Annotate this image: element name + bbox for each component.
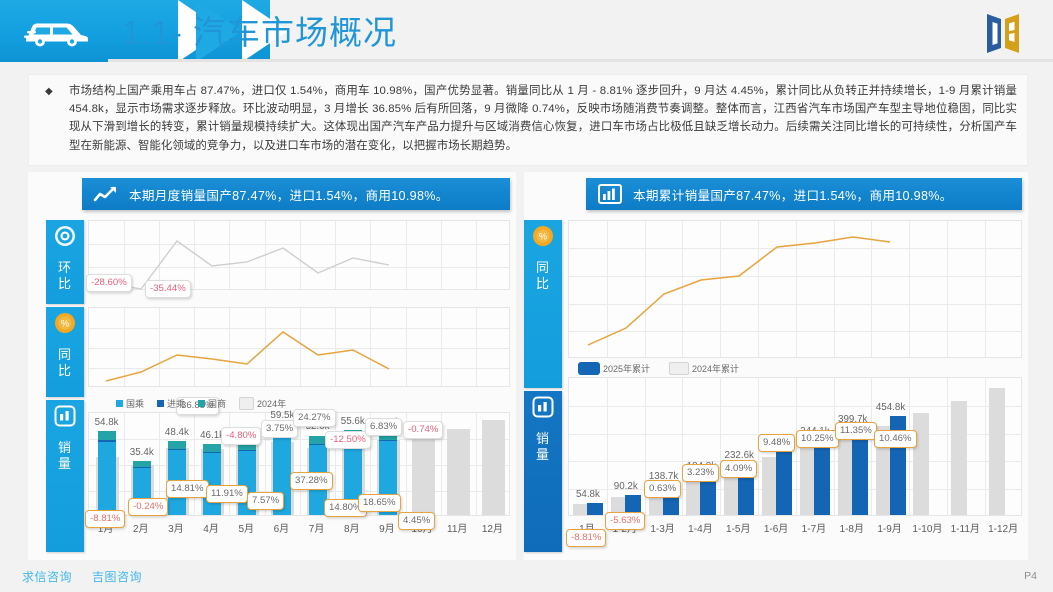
- sidebar-label-cum-yoy: 同比: [535, 260, 551, 292]
- summary-bullet: ◆: [45, 86, 53, 97]
- right-chart-legend: 2025年累计 2024年累计: [578, 362, 748, 375]
- left-chart-legend: 国乘 进乘 国商 2024年: [116, 397, 295, 410]
- axis-label: 5月: [226, 520, 266, 535]
- sidebar-label-mom: 环比: [57, 260, 73, 292]
- cumyoy-label-4: 3.23%: [682, 464, 719, 482]
- legend-item-2025-cum: 2025年累计: [578, 362, 650, 375]
- axis-label: 4月: [191, 520, 231, 535]
- sidebar-item-yoy[interactable]: % 同比: [46, 307, 84, 397]
- bar-2025-cum: [814, 440, 830, 515]
- bar-segment-国商: [203, 444, 221, 452]
- axis-label: 2月: [121, 520, 161, 535]
- right-panel-caption: 本期累计销量国产87.47%，进口1.54%，商用10.98%。: [586, 178, 1022, 210]
- bar-2024-ref: [447, 429, 470, 515]
- bar-chart-icon: [593, 184, 627, 204]
- legend-swatch: [157, 400, 164, 407]
- legend-swatch: [239, 397, 254, 410]
- line-chart-icon: [89, 185, 123, 203]
- right-panel: 本期累计销量国产87.47%，进口1.54%，商用10.98%。 % 同比 销量: [524, 172, 1028, 560]
- bar-segment-进乘: [309, 444, 327, 445]
- bar-2024-cum: [989, 388, 1005, 515]
- legend-swatch: [198, 400, 205, 407]
- bar-2025-cum: [852, 428, 868, 515]
- bar-chart-icon: [532, 396, 554, 423]
- bar-value-label: 48.4k: [157, 427, 197, 438]
- axis-label: 12月: [472, 520, 512, 535]
- sidebar-label-sales: 销量: [57, 440, 73, 472]
- page-number: P4: [1024, 570, 1037, 582]
- cumyoy-label-8: 11.35%: [835, 422, 877, 440]
- bar-2024-ref: [482, 420, 505, 515]
- bar-value-label: 54.8k: [87, 417, 127, 428]
- sidebar-item-cum-yoy[interactable]: % 同比: [524, 220, 562, 388]
- bar-segment-进乘: [379, 440, 397, 441]
- bar-segment-国商: [309, 436, 327, 445]
- bar-value-label: 35.4k: [122, 447, 162, 458]
- yoy-label-5: 7.57%: [247, 492, 284, 510]
- left-panel: 本期月度销量国产87.47%，进口1.54%，商用10.98%。 环比 % 同比: [28, 172, 516, 560]
- mom-label-4: -4.80%: [221, 427, 261, 445]
- axis-label: 6月: [261, 520, 301, 535]
- header-divider: [108, 59, 1053, 62]
- page-title: 1.1- 汽车市场概况: [122, 6, 397, 54]
- legend-swatch: [578, 362, 600, 375]
- yoy-label-4: 11.91%: [206, 485, 248, 503]
- cumyoy-label-5: 4.09%: [720, 460, 757, 478]
- bar-segment-国商: [133, 461, 151, 467]
- legend-swatch: [669, 362, 689, 375]
- mom-label-7: -12.50%: [325, 431, 371, 449]
- bar-2024-cum: [951, 401, 967, 515]
- yoy-label-3: 14.81%: [166, 480, 209, 498]
- legend-item-guoshang: 国商: [198, 397, 226, 410]
- yoy-line-path: [89, 308, 511, 388]
- bar-segment-进乘: [98, 440, 116, 441]
- bar-2024-cum: [913, 413, 929, 515]
- cumyoy-label-6: 9.48%: [758, 434, 795, 452]
- axis-label: 1-12月: [979, 520, 1027, 535]
- car-icon: [22, 13, 92, 49]
- sidebar-item-mom[interactable]: 环比: [46, 220, 84, 304]
- bar-segment-国商: [168, 441, 186, 449]
- axis-label: 11月: [437, 520, 477, 535]
- axis-label: 3月: [156, 520, 196, 535]
- mom-label-2: -35.44%: [145, 280, 191, 298]
- mom-label-6: 24.27%: [293, 409, 336, 427]
- mom-label-9: -0.74%: [403, 421, 443, 439]
- legend-label: 2024年: [257, 397, 286, 410]
- brand-a: 求信咨询: [22, 568, 72, 585]
- cum-yoy-line-chart: [568, 220, 1022, 358]
- bar-value-label: 90.2k: [604, 481, 648, 492]
- mom-label-1: -28.60%: [86, 274, 132, 292]
- yoy-label-1: -8.81%: [85, 510, 125, 528]
- bar-segment-国乘: [98, 442, 116, 515]
- page-footer: 求信咨询 吉图咨询 P4: [0, 562, 1053, 592]
- yoy-label-8: 18.65%: [358, 494, 401, 512]
- right-caption-text: 本期累计销量国产87.47%，进口1.54%，商用10.98%。: [633, 185, 953, 204]
- legend-label: 2024年累计: [692, 362, 739, 375]
- cum-yoy-line-path: [569, 221, 1023, 359]
- mom-label-8: 6.83%: [365, 418, 402, 436]
- legend-label: 国商: [208, 397, 226, 410]
- bar-value-label: 454.8k: [869, 402, 913, 413]
- bar-segment-进乘: [238, 450, 256, 451]
- svg-text:%: %: [539, 232, 547, 242]
- axis-label: 7月: [297, 520, 337, 535]
- bar-segment-进乘: [133, 467, 151, 468]
- left-panel-caption: 本期月度销量国产87.47%，进口1.54%，商用10.98%。: [82, 178, 510, 210]
- legend-item-jincheng: 进乘: [157, 397, 185, 410]
- db-logo: [971, 8, 1043, 54]
- cumyoy-label-3: 0.63%: [644, 480, 681, 498]
- legend-swatch: [116, 400, 123, 407]
- cumyoy-label-2: -5.63%: [605, 512, 645, 530]
- bar-segment-国商: [98, 431, 116, 440]
- bar-segment-进乘: [203, 452, 221, 453]
- legend-item-guocheng: 国乘: [116, 397, 144, 410]
- page-header: 1.1- 汽车市场概况: [0, 0, 1053, 62]
- sidebar-item-sales[interactable]: 销量: [46, 400, 84, 552]
- bar-segment-进乘: [168, 449, 186, 450]
- yoy-label-2: -0.24%: [128, 498, 168, 516]
- legend-item-2024-cum: 2024年累计: [669, 362, 739, 375]
- yoy-line-chart: [88, 307, 510, 387]
- bar-2025-cum: [776, 452, 792, 515]
- bar-chart-icon: [54, 405, 76, 432]
- sidebar-label-yoy: 同比: [57, 347, 73, 379]
- bar-2025-cum: [587, 503, 603, 515]
- left-caption-text: 本期月度销量国产87.47%，进口1.54%，商用10.98%。: [129, 185, 449, 204]
- legend-item-2024: 2024年: [239, 397, 286, 410]
- cumyoy-label-7: 10.25%: [796, 430, 839, 448]
- percent-icon: %: [532, 225, 554, 252]
- legend-label: 进乘: [167, 397, 185, 410]
- yoy-label-9: 4.45%: [398, 512, 435, 530]
- sidebar-item-cum-sales[interactable]: 销量: [524, 391, 562, 552]
- summary-box: ◆ 市场结构上国产乘用车占 87.47%，进口仅 1.54%，商用车 10.98…: [28, 74, 1028, 166]
- percent-icon: %: [54, 312, 76, 339]
- svg-text:%: %: [61, 319, 69, 329]
- yoy-label-6: 37.28%: [290, 472, 333, 490]
- legend-label: 2025年累计: [603, 362, 650, 375]
- axis-label: 8月: [332, 520, 372, 535]
- summary-text: 市场结构上国产乘用车占 87.47%，进口仅 1.54%，商用车 10.98%，…: [69, 82, 1017, 155]
- cumyoy-label-1: -8.81%: [566, 529, 606, 547]
- brand-b: 吉图咨询: [92, 568, 142, 585]
- bar-2024-ref: [412, 435, 435, 515]
- target-icon: [54, 225, 76, 252]
- sidebar-label-cum-sales: 销量: [535, 431, 551, 463]
- cumyoy-label-9: 10.46%: [874, 430, 917, 448]
- legend-label: 国乘: [126, 397, 144, 410]
